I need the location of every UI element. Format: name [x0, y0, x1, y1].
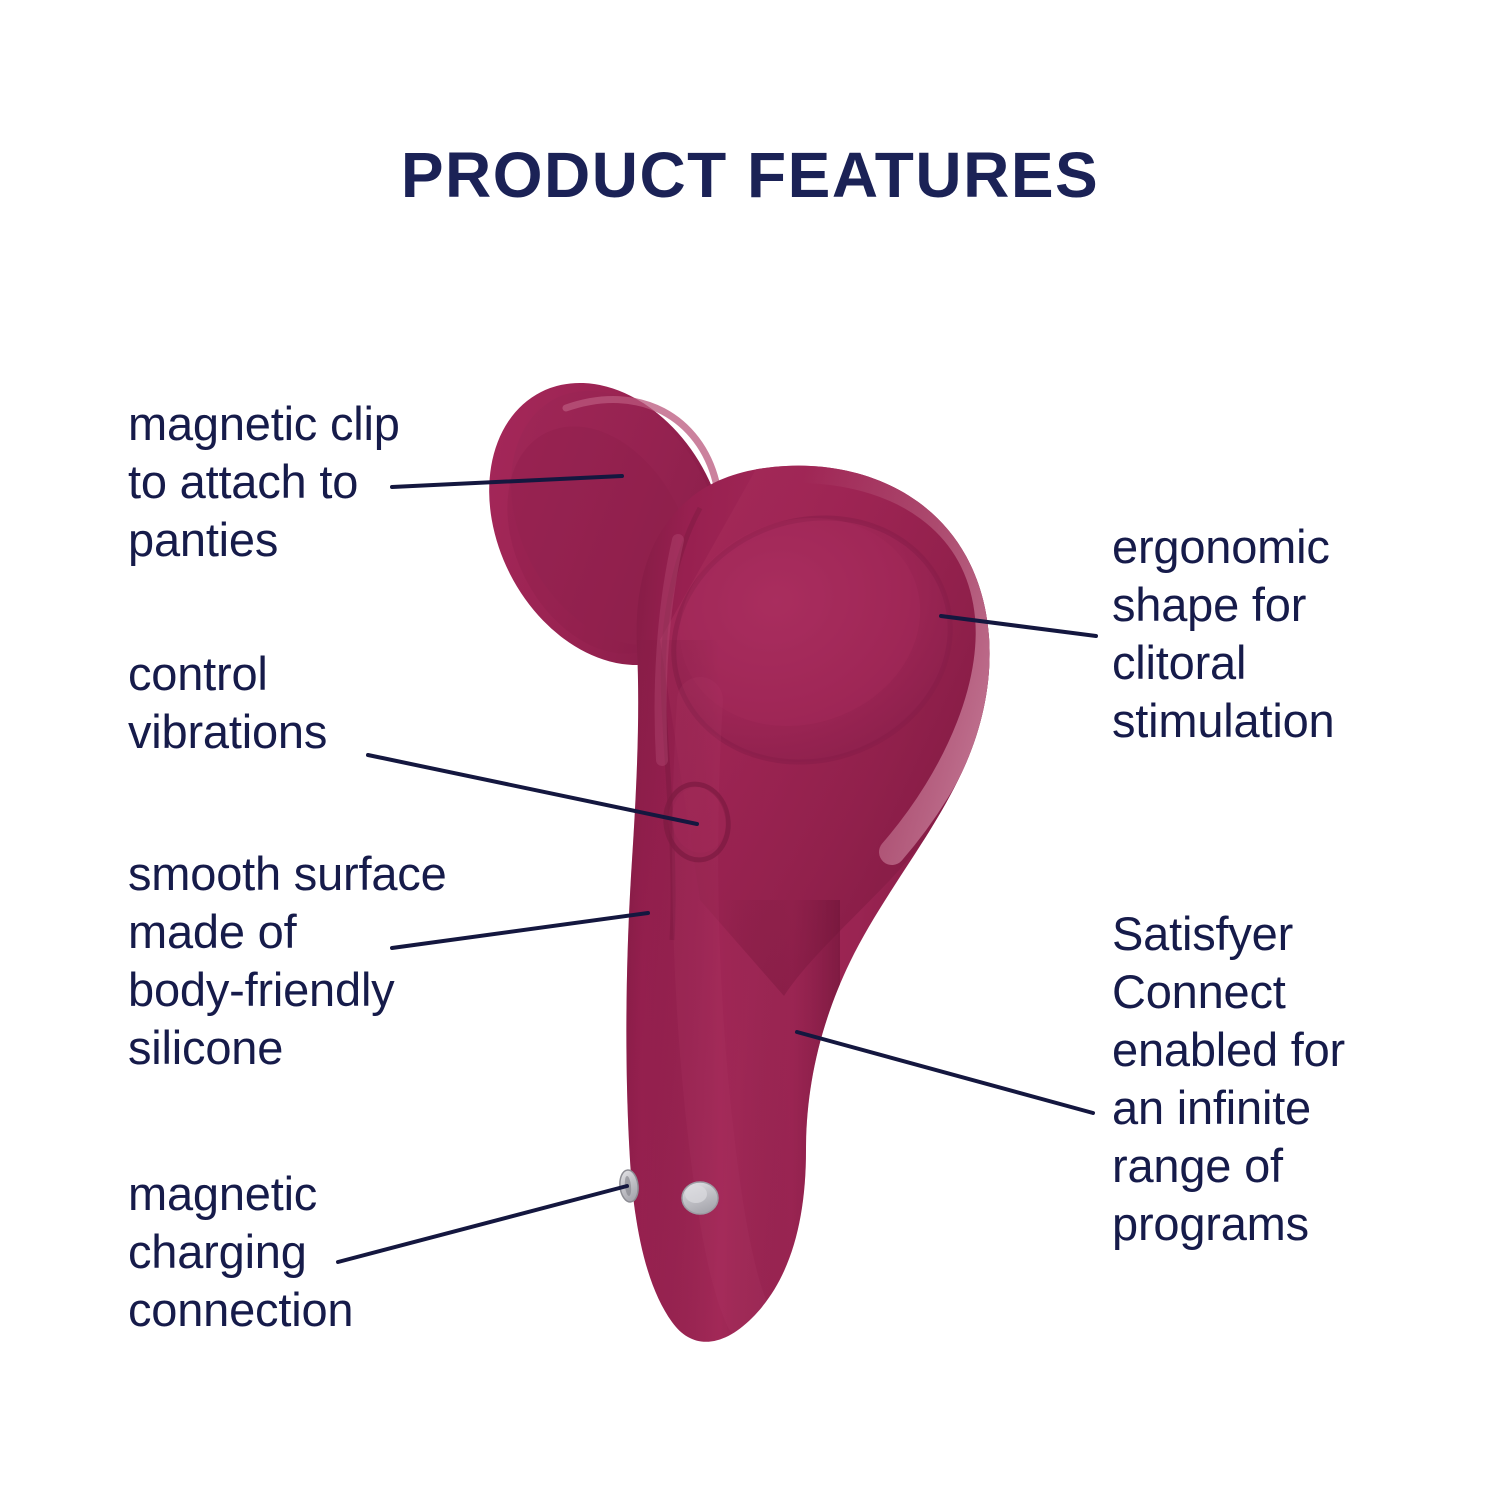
callout-satisfyer-connect: Satisfyer Connect enabled for an infinit… — [1112, 905, 1345, 1253]
callout-line: range of — [1112, 1137, 1345, 1195]
callout-magnetic-clip: magnetic clip to attach to panties — [128, 395, 400, 569]
callout-line: Connect — [1112, 963, 1345, 1021]
callout-line: body-friendly — [128, 961, 447, 1019]
device-body — [600, 461, 1004, 1360]
magnetic-charging-contact-dot — [682, 1182, 718, 1214]
callout-line: made of — [128, 903, 447, 961]
callout-line: programs — [1112, 1195, 1345, 1253]
callout-line: to attach to — [128, 453, 400, 511]
callout-line: charging — [128, 1223, 353, 1281]
callout-magnetic-charging: magnetic charging connection — [128, 1165, 353, 1339]
product-features-infographic: PRODUCT FEATURES — [0, 0, 1500, 1500]
callout-line: clitoral — [1112, 634, 1334, 692]
callout-line: Satisfyer — [1112, 905, 1345, 963]
callout-line: ergonomic — [1112, 518, 1334, 576]
callout-line: enabled for — [1112, 1021, 1345, 1079]
callout-line: vibrations — [128, 703, 327, 761]
callout-ergonomic-shape: ergonomic shape for clitoral stimulation — [1112, 518, 1334, 750]
callout-line: magnetic clip — [128, 395, 400, 453]
callout-line: silicone — [128, 1019, 447, 1077]
callout-smooth-surface: smooth surface made of body-friendly sil… — [128, 845, 447, 1077]
callout-line: control — [128, 645, 327, 703]
callout-line: shape for — [1112, 576, 1334, 634]
callout-line: an infinite — [1112, 1079, 1345, 1137]
callout-control-vibrations: control vibrations — [128, 645, 327, 761]
callout-line: panties — [128, 511, 400, 569]
callout-line: smooth surface — [128, 845, 447, 903]
callout-line: connection — [128, 1281, 353, 1339]
callout-line: stimulation — [1112, 692, 1334, 750]
callout-line: magnetic — [128, 1165, 353, 1223]
